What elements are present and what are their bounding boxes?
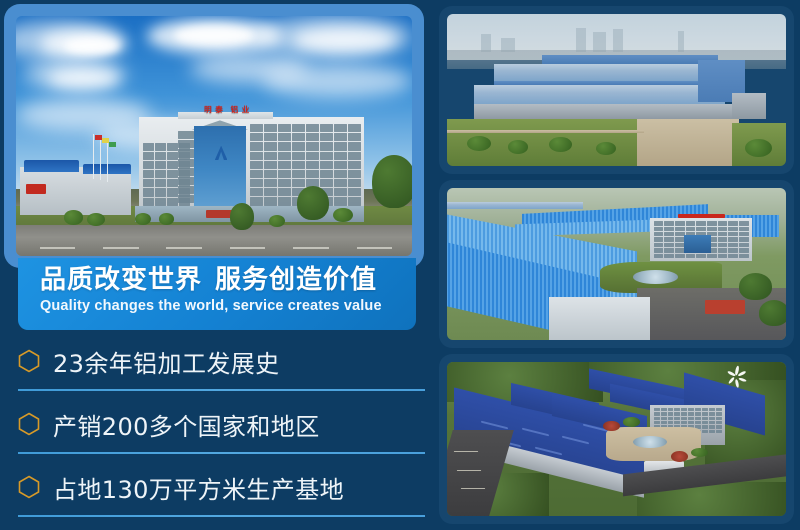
shrub — [623, 417, 640, 426]
feature-list: 23余年铝加工发展史 产销200多个国家和地区 — [0, 338, 432, 527]
slogan-headline: 品质改变世界服务创造价值 — [40, 265, 416, 296]
company-headquarters-photo: 明 泰 铝 业 — [16, 16, 412, 256]
tree — [297, 186, 329, 220]
gallery-photo-plant-rendering[interactable] — [443, 358, 790, 520]
factory-wall — [732, 93, 766, 119]
feature-divider — [18, 452, 425, 454]
cloud — [48, 69, 119, 88]
shrub — [87, 213, 105, 226]
feature-label: 23余年铝加工发展史 — [53, 344, 280, 379]
feature-item-markets[interactable]: 产销200多个国家和地区 — [0, 401, 432, 464]
flag — [95, 135, 102, 140]
shrub — [64, 210, 84, 224]
plant-rendering-photo — [447, 362, 786, 516]
flag — [102, 138, 109, 143]
shrub — [467, 136, 491, 151]
hero-photo-card[interactable]: 明 泰 铝 业 — [10, 10, 418, 262]
slogan-headline-part1: 品质改变世界 — [40, 265, 202, 295]
skyline-building — [593, 32, 607, 52]
tree — [739, 273, 773, 300]
slogan-subline: Quality changes the world, service creat… — [40, 298, 416, 314]
factory-wall — [474, 104, 752, 119]
road-marking — [357, 247, 393, 249]
shrub — [745, 139, 772, 157]
access-road — [447, 130, 644, 134]
shrub — [333, 208, 353, 222]
ornamental-tree — [671, 451, 688, 462]
tower-entrance — [684, 235, 711, 253]
low-office-block — [549, 297, 651, 340]
gallery-column — [443, 0, 800, 530]
road-marking — [103, 247, 139, 249]
feature-item-history[interactable]: 23余年铝加工发展史 — [0, 338, 432, 401]
tree — [759, 300, 786, 326]
cloud — [174, 26, 253, 45]
gallery-photo-plant-courtyard[interactable] — [443, 184, 790, 344]
hexagon-icon — [18, 412, 40, 436]
feature-label: 占地130万平方米生产基地 — [53, 470, 344, 505]
feature-label: 产销200多个国家和地区 — [53, 407, 320, 442]
ornamental-tree — [603, 421, 620, 432]
fountain — [633, 270, 677, 284]
flagpole — [107, 141, 108, 182]
hexagon-icon — [18, 475, 40, 499]
left-column: 明 泰 铝 业 — [0, 0, 432, 530]
cloud — [293, 28, 396, 52]
flagpole — [100, 137, 101, 180]
shrub — [135, 213, 151, 225]
roof-sign-char: 明 — [204, 104, 212, 115]
blue-roof — [24, 160, 79, 172]
plant-courtyard-photo — [447, 188, 786, 340]
road-marking — [166, 247, 202, 249]
road-marking — [230, 247, 266, 249]
promo-banner-page: 明 泰 铝 业 — [0, 0, 800, 530]
tree — [372, 155, 412, 208]
skyline-building — [678, 31, 685, 52]
window-grid — [178, 131, 194, 203]
feature-item-area[interactable]: 占地130万平方米生产基地 — [0, 464, 432, 527]
building-sign — [26, 184, 46, 194]
skyline-building — [613, 29, 623, 52]
road-marking — [40, 247, 76, 249]
road-marking — [293, 247, 329, 249]
feature-divider — [18, 515, 425, 517]
distant-roof — [447, 202, 583, 210]
roof-sign-char: 泰 — [215, 104, 223, 115]
skyline-building — [576, 28, 586, 52]
lane-marking — [457, 470, 481, 471]
roof-sign-char: 业 — [242, 104, 250, 115]
shrub — [159, 213, 175, 225]
skyline-building — [481, 34, 491, 52]
tree — [230, 203, 254, 229]
tower-roof-sign — [678, 214, 725, 219]
slogan-banner: 品质改变世界服务创造价值 Quality changes the world, … — [18, 258, 416, 330]
gate-structure — [705, 300, 746, 314]
cloud — [262, 64, 412, 98]
aerial-factory-photo — [447, 14, 786, 166]
slogan-headline-part2: 服务创造价值 — [215, 265, 377, 295]
hexagon-icon — [18, 349, 40, 373]
feature-divider — [18, 389, 425, 391]
flag — [109, 142, 116, 147]
gallery-photo-aerial-factory[interactable] — [443, 10, 790, 170]
building-parapet — [178, 112, 273, 119]
roof-sign-char: 铝 — [231, 104, 239, 115]
factory-roof — [494, 64, 718, 81]
factory-roof — [474, 85, 725, 103]
flagpole — [93, 134, 94, 180]
shrub — [508, 140, 528, 154]
dirt-yard — [637, 119, 739, 166]
road — [16, 225, 412, 256]
factory-roof — [542, 55, 718, 64]
